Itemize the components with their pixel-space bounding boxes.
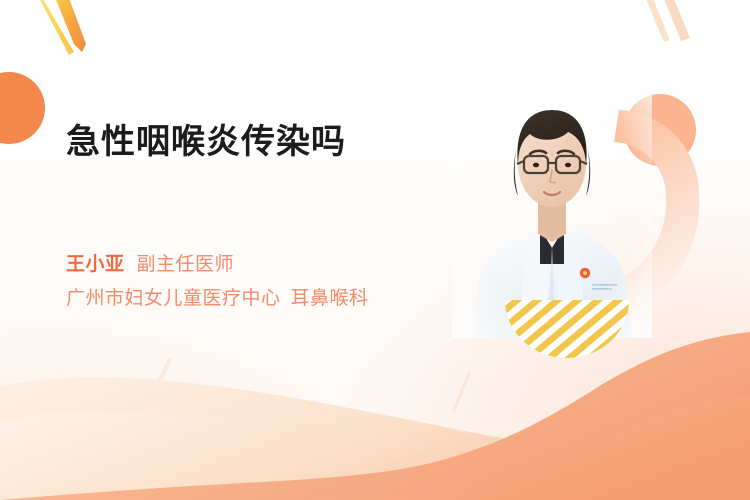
video-cover: 急性咽喉炎传染吗 王小亚副主任医师 广州市妇女儿童医疗中心耳鼻喉科 [0,0,750,500]
text-block: 急性咽喉炎传染吗 王小亚副主任医师 广州市妇女儿童医疗中心耳鼻喉科 [66,118,466,316]
doctor-name: 王小亚 [66,254,125,275]
byline-row-affiliation: 广州市妇女儿童医疗中心耳鼻喉科 [66,282,466,316]
doctor-rank: 副主任医师 [137,254,235,275]
doctor-department: 耳鼻喉科 [291,288,369,309]
page-title: 急性咽喉炎传染吗 [66,118,466,166]
doctor-portrait [452,88,652,338]
byline-row-name: 王小亚副主任医师 [66,248,466,282]
doctor-affiliation: 广州市妇女儿童医疗中心 [66,288,281,309]
byline: 王小亚副主任医师 广州市妇女儿童医疗中心耳鼻喉科 [66,248,466,316]
